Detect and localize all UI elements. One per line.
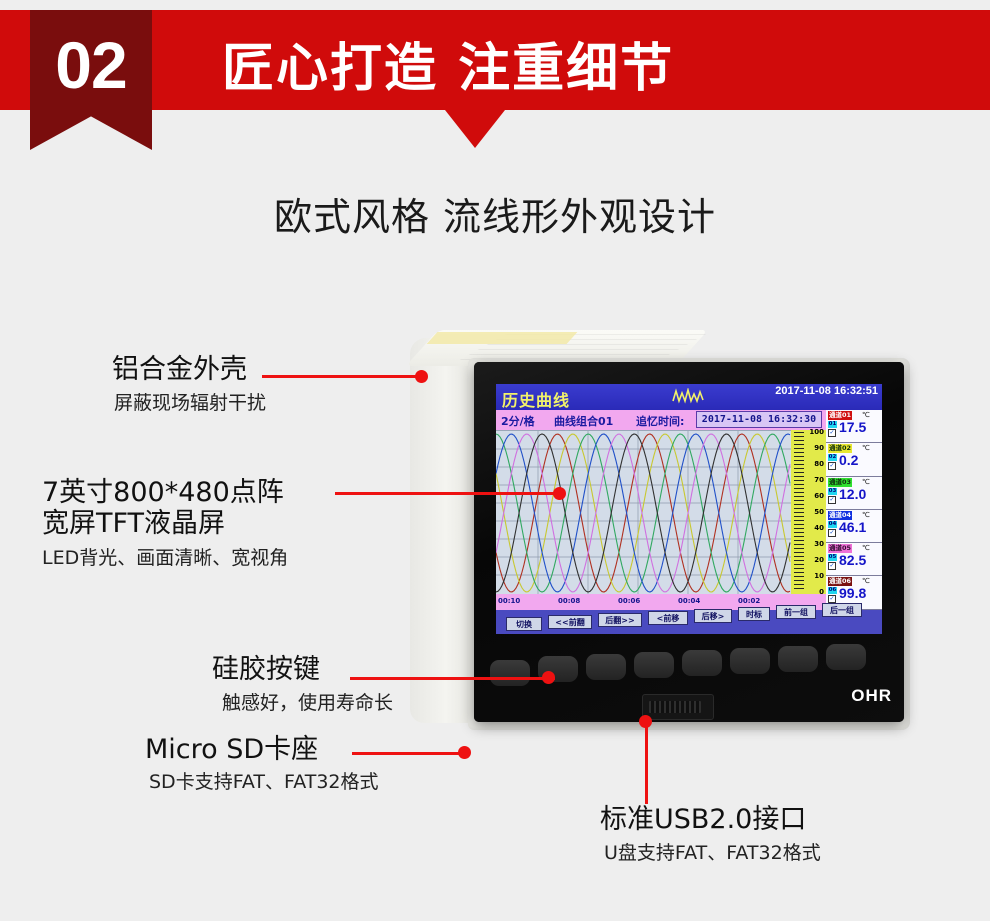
channel-unit: ℃ xyxy=(862,511,870,519)
leader-line-usb-port xyxy=(645,722,648,804)
section-number: 02 xyxy=(55,32,126,98)
brand-logo: OHR xyxy=(851,686,892,706)
lcd-screen[interactable]: 历史曲线 2017-11-08 16:32:51 2分/格 曲线组合01 追忆时… xyxy=(496,384,882,634)
softkey-8[interactable]: 后一组 xyxy=(822,603,862,617)
annotation-micro-sd: Micro SD卡座 SD卡支持FAT、FAT32格式 xyxy=(145,735,379,794)
silicone-button-7[interactable] xyxy=(778,646,818,672)
softkey-3[interactable]: 后翻>> xyxy=(598,613,642,627)
silicone-button-1[interactable] xyxy=(490,660,530,686)
plot-gridlines xyxy=(496,431,791,595)
channel-row[interactable]: 通道02℃02✓0.2 xyxy=(826,443,882,476)
x-tick-label: 00:06 xyxy=(618,597,640,605)
channel-value: 99.8 xyxy=(839,585,866,601)
device-front-bezel: 历史曲线 2017-11-08 16:32:51 2分/格 曲线组合01 追忆时… xyxy=(474,362,904,722)
channel-checkbox[interactable]: ✓ xyxy=(828,462,836,470)
channel-value: 82.5 xyxy=(839,552,866,568)
y-tick-label: 30 xyxy=(814,540,824,548)
leader-dot-micro-sd xyxy=(458,746,471,759)
banner-notch-arrow xyxy=(445,110,505,148)
annotation-usb-port: 标准USB2.0接口 U盘支持FAT、FAT32格式 xyxy=(600,805,821,865)
y-tick-label: 10 xyxy=(814,572,824,580)
channel-unit: ℃ xyxy=(862,411,870,419)
header-banner: 02 匠心打造 注重细节 xyxy=(0,10,990,140)
recall-time-value[interactable]: 2017-11-08 16:32:30 xyxy=(696,411,822,428)
waveform-icon xyxy=(672,388,706,404)
usb-port[interactable] xyxy=(642,694,714,720)
trend-series-layer xyxy=(496,434,790,592)
channel-number: 04 xyxy=(828,521,837,528)
channel-number: 01 xyxy=(828,421,837,428)
channel-value: 0.2 xyxy=(839,452,858,468)
silicone-button-6[interactable] xyxy=(730,648,770,674)
silicone-button-3[interactable] xyxy=(586,654,626,680)
screen-titlebar: 历史曲线 2017-11-08 16:32:51 xyxy=(496,384,882,410)
softkey-7[interactable]: 前一组 xyxy=(776,605,816,619)
trend-plot-area[interactable] xyxy=(496,430,791,594)
curve-group-label: 曲线组合01 xyxy=(554,413,613,429)
softkey-6[interactable]: 时标 xyxy=(738,607,770,621)
y-tick-label: 60 xyxy=(814,492,824,500)
annotation-aluminum-case-title: 铝合金外壳 xyxy=(112,355,266,386)
annotation-aluminum-case: 铝合金外壳 屏蔽现场辐射干扰 xyxy=(112,355,266,415)
silicone-button-4[interactable] xyxy=(634,652,674,678)
annotation-silicone-keys-sub: 触感好，使用寿命长 xyxy=(222,692,393,715)
leader-dot-aluminum-case xyxy=(415,370,428,383)
annotation-usb-port-sub: U盘支持FAT、FAT32格式 xyxy=(604,842,821,865)
softkey-4[interactable]: <前移 xyxy=(648,611,688,625)
leader-line-lcd-screen xyxy=(335,492,565,495)
annotation-lcd-screen: 7英寸800*480点阵 宽屏TFT液晶屏 LED背光、画面清晰、宽视角 xyxy=(42,478,288,569)
channel-readout-panel[interactable]: 通道01℃01✓17.5通道02℃02✓0.2通道03℃03✓12.0通道04℃… xyxy=(826,410,882,610)
screen-clock: 2017-11-08 16:32:51 xyxy=(775,385,878,397)
y-tick-label: 50 xyxy=(814,508,824,516)
paperless-recorder-device: 历史曲线 2017-11-08 16:32:51 2分/格 曲线组合01 追忆时… xyxy=(410,330,910,730)
channel-number: 02 xyxy=(828,454,837,461)
silicone-button-8[interactable] xyxy=(826,644,866,670)
channel-row[interactable]: 通道05℃05✓82.5 xyxy=(826,543,882,576)
leader-line-silicone-keys xyxy=(350,677,555,680)
channel-value: 46.1 xyxy=(839,519,866,535)
softkey-2[interactable]: <<前翻 xyxy=(548,615,592,629)
device-top-yellow-sticker xyxy=(427,332,578,344)
annotation-micro-sd-title: Micro SD卡座 xyxy=(145,735,379,766)
screen-title: 历史曲线 xyxy=(502,387,570,411)
y-tick-label: 40 xyxy=(814,524,824,532)
page-subtitle: 欧式风格 流线形外观设计 xyxy=(0,186,990,241)
channel-checkbox[interactable]: ✓ xyxy=(828,496,836,504)
annotation-aluminum-case-sub: 屏蔽现场辐射干扰 xyxy=(114,392,266,415)
leader-dot-usb-port xyxy=(639,715,652,728)
leader-line-micro-sd xyxy=(352,752,462,755)
annotation-lcd-screen-title2: 宽屏TFT液晶屏 xyxy=(42,509,288,540)
screen-subbar: 2分/格 曲线组合01 追忆时间: 2017-11-08 16:32:30 xyxy=(496,410,826,430)
channel-number: 05 xyxy=(828,554,837,561)
channel-number: 06 xyxy=(828,587,837,594)
time-scale-label: 2分/格 xyxy=(501,413,535,429)
softkey-5[interactable]: 后移> xyxy=(694,609,732,623)
x-tick-label: 00:04 xyxy=(678,597,700,605)
softkey-1[interactable]: 切换 xyxy=(506,617,542,631)
annotation-micro-sd-sub: SD卡支持FAT、FAT32格式 xyxy=(149,771,379,794)
annotation-silicone-keys: 硅胶按键 触感好，使用寿命长 xyxy=(212,655,393,715)
annotation-usb-port-title: 标准USB2.0接口 xyxy=(600,805,821,836)
y-tick-label: 70 xyxy=(814,476,824,484)
channel-checkbox[interactable]: ✓ xyxy=(828,429,836,437)
leader-dot-lcd-screen xyxy=(553,487,566,500)
y-tick-label: 100 xyxy=(809,428,824,436)
channel-value: 12.0 xyxy=(839,486,866,502)
annotation-lcd-screen-sub: LED背光、画面清晰、宽视角 xyxy=(42,547,288,570)
y-tick-label: 90 xyxy=(814,444,824,452)
channel-unit: ℃ xyxy=(862,544,870,552)
y-tick-label: 80 xyxy=(814,460,824,468)
section-number-ribbon: 02 xyxy=(30,10,152,150)
x-tick-label: 00:10 xyxy=(498,597,520,605)
leader-dot-silicone-keys xyxy=(542,671,555,684)
leader-line-aluminum-case xyxy=(262,375,420,378)
y-tick-label: 20 xyxy=(814,556,824,564)
channel-row[interactable]: 通道04℃04✓46.1 xyxy=(826,510,882,543)
channel-unit: ℃ xyxy=(862,577,870,585)
recall-time-label: 追忆时间: xyxy=(636,413,684,429)
y-axis-scale: 1009080706050403020100 xyxy=(791,430,826,594)
channel-value: 17.5 xyxy=(839,419,866,435)
channel-checkbox[interactable]: ✓ xyxy=(828,562,836,570)
y-axis-ruler-ticks xyxy=(794,432,804,592)
channel-checkbox[interactable]: ✓ xyxy=(828,529,836,537)
banner-title: 匠心打造 注重细节 xyxy=(222,26,674,101)
annotation-silicone-keys-title: 硅胶按键 xyxy=(212,655,393,686)
annotation-lcd-screen-title: 7英寸800*480点阵 xyxy=(42,478,288,509)
channel-number: 03 xyxy=(828,488,837,495)
channel-row[interactable]: 通道03℃03✓12.0 xyxy=(826,477,882,510)
silicone-button-5[interactable] xyxy=(682,650,722,676)
channel-row[interactable]: 通道01℃01✓17.5 xyxy=(826,410,882,443)
channel-unit: ℃ xyxy=(862,478,870,486)
channel-unit: ℃ xyxy=(862,444,870,452)
x-tick-label: 00:08 xyxy=(558,597,580,605)
x-tick-label: 00:02 xyxy=(738,597,760,605)
trend-curves-svg xyxy=(496,431,791,595)
